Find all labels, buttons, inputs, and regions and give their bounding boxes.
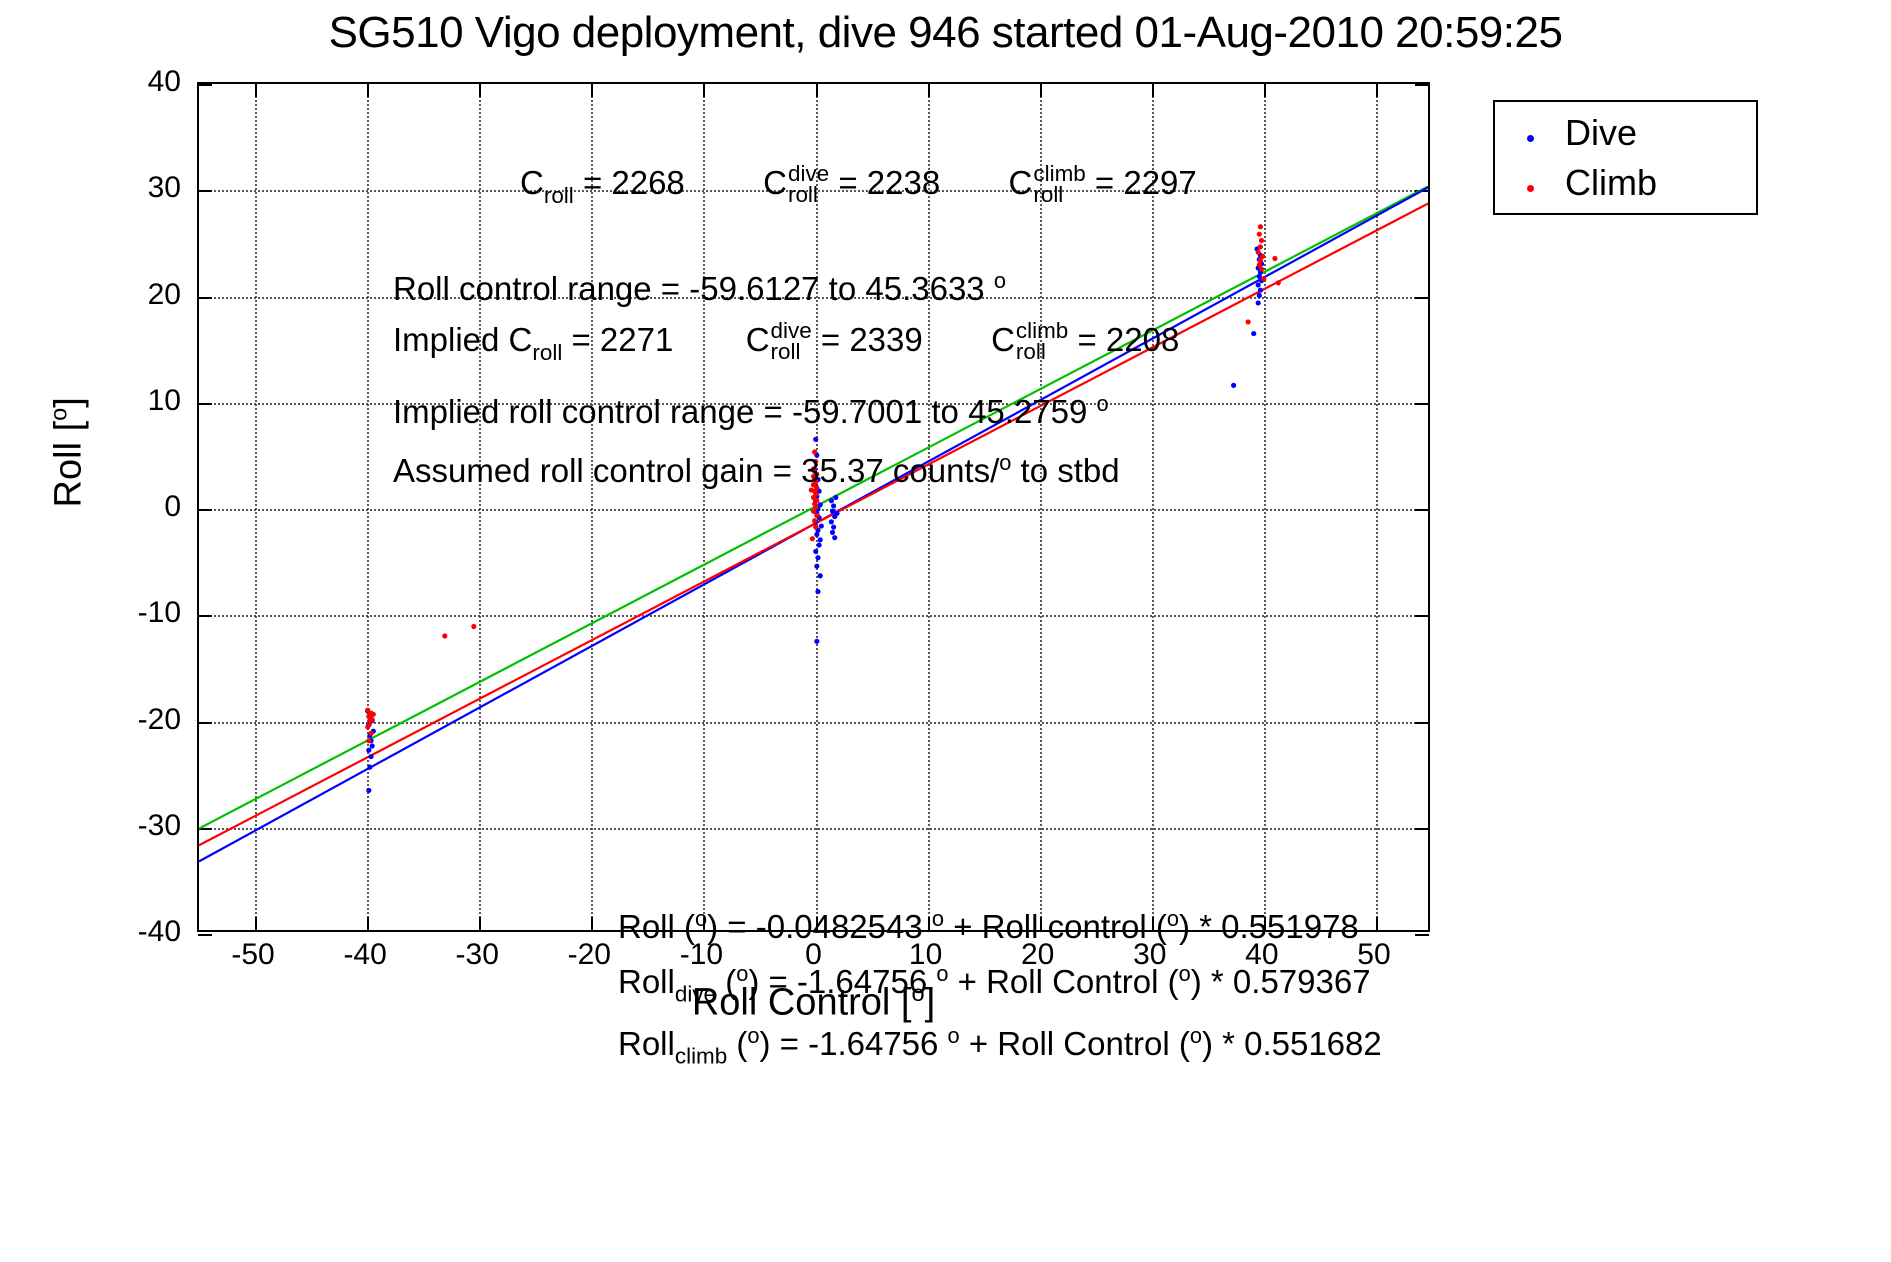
data-point: [834, 511, 839, 516]
data-point: [367, 716, 372, 721]
data-point: [1251, 331, 1256, 336]
eq-dive-body2: + Roll Control (: [958, 963, 1179, 1000]
equation-roll-all: Roll (o) = -0.0482543 o + Roll control (…: [618, 906, 1359, 946]
c-roll-climb-script: climbroll: [1033, 163, 1085, 206]
data-point: [1276, 280, 1281, 285]
eq-dive-body1: ) = -1.64756: [748, 963, 927, 1000]
climb-marker-icon: [1495, 170, 1565, 196]
y-axis-label-text: Roll [: [47, 421, 89, 508]
data-point: [365, 707, 370, 712]
eq-dive-deg1: o: [736, 961, 748, 986]
eq-climb-body3: ) * 0.551682: [1202, 1025, 1382, 1062]
eq-dive-deg3: o: [1179, 961, 1191, 986]
y-axis-tick: [1415, 934, 1429, 936]
implied-c-climb-script: climbroll: [1016, 320, 1068, 363]
data-point: [814, 639, 819, 644]
data-point: [370, 743, 375, 748]
data-point: [818, 537, 823, 542]
data-point: [1261, 276, 1266, 281]
c-roll-symbol: C: [520, 164, 544, 201]
eq-all-deg2: o: [932, 906, 944, 931]
data-point: [442, 633, 447, 638]
data-point: [1257, 293, 1262, 298]
y-axis-label: Roll [o]: [46, 322, 91, 582]
data-point: [367, 765, 372, 770]
data-point: [366, 738, 371, 743]
degree-symbol-gain: o: [999, 450, 1011, 475]
annotation-centers: Croll = 2268 Cdiveroll = 2238 Cclimbroll…: [520, 163, 1197, 207]
data-point: [814, 513, 819, 518]
eq-climb-lhs: Roll: [618, 1025, 675, 1062]
eq-all-deg1: o: [695, 906, 707, 931]
data-point: [829, 519, 834, 524]
degree-symbol: o: [994, 268, 1006, 293]
data-point: [1256, 250, 1261, 255]
data-point: [471, 624, 476, 629]
y-tick-label: -30: [111, 809, 181, 843]
implied-roll-control-range-text: Implied roll control range = -59.7001 to…: [393, 393, 1087, 430]
data-point: [368, 754, 373, 759]
data-point: [830, 509, 835, 514]
implied-c-climb-symbol: C: [991, 321, 1015, 358]
x-tick-label: -40: [343, 938, 386, 972]
x-tick-label: -30: [456, 938, 499, 972]
plot-area: [197, 82, 1430, 932]
implied-c-dive-value: = 2339: [821, 321, 923, 358]
data-point: [832, 535, 837, 540]
roll-control-range-text: Roll control range = -59.6127 to 45.3633: [393, 270, 985, 307]
data-point: [1258, 244, 1263, 249]
c-roll-dive-value: = 2238: [838, 164, 940, 201]
data-point: [814, 564, 819, 569]
eq-dive-lhs: Roll: [618, 963, 675, 1000]
eq-all-body3: ) * 0.551978: [1179, 908, 1359, 945]
implied-c-roll-subscript: roll: [532, 340, 562, 365]
data-point: [815, 555, 820, 560]
x-tick-label: -20: [568, 938, 611, 972]
eq-dive-body3: ) * 0.579367: [1191, 963, 1371, 1000]
data-point: [811, 509, 816, 514]
data-point: [815, 589, 820, 594]
y-tick-label: -10: [111, 596, 181, 630]
eq-all-body2: + Roll control (: [953, 908, 1167, 945]
eq-all-body1: ) = -0.0482543: [707, 908, 923, 945]
data-layer: [199, 84, 1428, 930]
legend-label-climb: Climb: [1565, 162, 1657, 204]
annotation-roll-control-range: Roll control range = -59.6127 to 45.3633…: [393, 270, 1006, 305]
data-point: [813, 437, 818, 442]
data-point: [1259, 238, 1264, 243]
eq-climb-subscript: climb: [675, 1044, 727, 1069]
implied-c-dive-script: diveroll: [771, 320, 812, 363]
legend-label-dive: Dive: [1565, 112, 1637, 154]
y-tick-label: 40: [111, 65, 181, 99]
data-point: [1246, 319, 1251, 324]
annotation-implied-roll-control-range: Implied roll control range = -59.7001 to…: [393, 393, 1109, 428]
data-point: [816, 542, 821, 547]
data-point: [829, 498, 834, 503]
data-point: [812, 518, 817, 523]
eq-climb-deg3: o: [1190, 1023, 1202, 1048]
eq-climb-body2: + Roll Control (: [969, 1025, 1190, 1062]
c-roll-value: = 2268: [583, 164, 685, 201]
data-point: [1258, 224, 1263, 229]
y-tick-label: 10: [111, 384, 181, 418]
equation-roll-climb: Rollclimb (o) = -1.64756 o + Roll Contro…: [618, 1023, 1382, 1070]
data-point: [1272, 256, 1277, 261]
y-tick-label: 0: [111, 490, 181, 524]
data-point: [368, 731, 373, 736]
data-point: [819, 523, 824, 528]
eq-all-lhs: Roll: [618, 908, 675, 945]
data-point: [813, 525, 818, 530]
data-point: [366, 748, 371, 753]
data-point: [1256, 300, 1261, 305]
data-point: [833, 495, 838, 500]
y-tick-label: 20: [111, 278, 181, 312]
assumed-gain-text: Assumed roll control gain = 35.37 counts…: [393, 452, 999, 489]
y-axis-tick: [198, 934, 212, 936]
dive-marker-icon: [1495, 120, 1565, 146]
legend[interactable]: Dive Climb: [1493, 100, 1758, 215]
eq-climb-deg2: o: [948, 1023, 960, 1048]
assumed-gain-tail: to stbd: [1011, 452, 1119, 489]
eq-dive-deg2: o: [936, 961, 948, 986]
data-point: [1259, 266, 1264, 271]
c-roll-dive-script: diveroll: [788, 163, 829, 206]
data-point: [371, 712, 376, 717]
annotation-assumed-gain: Assumed roll control gain = 35.37 counts…: [393, 452, 1120, 487]
y-tick-label: -20: [111, 703, 181, 737]
data-point: [831, 503, 836, 508]
implied-c-roll-value: = 2271: [571, 321, 673, 358]
eq-climb-deg1: o: [747, 1023, 759, 1048]
data-point: [1231, 383, 1236, 388]
data-point: [366, 788, 371, 793]
c-roll-climb-value: = 2297: [1095, 164, 1197, 201]
equation-roll-dive: Rolldive (o) = -1.64756 o + Roll Control…: [618, 961, 1371, 1008]
data-point: [830, 530, 835, 535]
implied-c-dive-symbol: C: [746, 321, 770, 358]
c-roll-dive-symbol: C: [763, 164, 787, 201]
data-point: [1258, 288, 1263, 293]
data-point: [810, 536, 815, 541]
c-roll-subscript: roll: [544, 183, 574, 208]
x-tick-label: -50: [231, 938, 274, 972]
annotation-implied-centers: Implied Croll = 2271 Cdiveroll = 2339 Cc…: [393, 320, 1179, 364]
data-point: [831, 525, 836, 530]
page-title: SG510 Vigo deployment, dive 946 started …: [0, 8, 1891, 58]
figure-canvas: SG510 Vigo deployment, dive 946 started …: [0, 0, 1891, 1262]
degree-symbol-implied: o: [1097, 391, 1109, 416]
y-tick-label: -40: [111, 915, 181, 949]
implied-c-roll-prefix: Implied C: [393, 321, 532, 358]
c-roll-climb-symbol: C: [1009, 164, 1033, 201]
data-point: [813, 549, 818, 554]
y-tick-label: 30: [111, 171, 181, 205]
legend-item-climb[interactable]: Climb: [1495, 158, 1756, 208]
legend-item-dive[interactable]: Dive: [1495, 108, 1756, 158]
data-point: [1257, 232, 1262, 237]
data-point: [818, 573, 823, 578]
data-point: [1256, 282, 1261, 287]
y-axis-degree-symbol: o: [46, 408, 72, 421]
data-point: [814, 532, 819, 537]
eq-dive-subscript: dive: [675, 982, 716, 1007]
y-axis-label-tail: ]: [47, 397, 89, 408]
eq-all-deg3: o: [1167, 906, 1179, 931]
implied-c-climb-value: = 2208: [1077, 321, 1179, 358]
eq-climb-body1: ) = -1.64756: [760, 1025, 939, 1062]
